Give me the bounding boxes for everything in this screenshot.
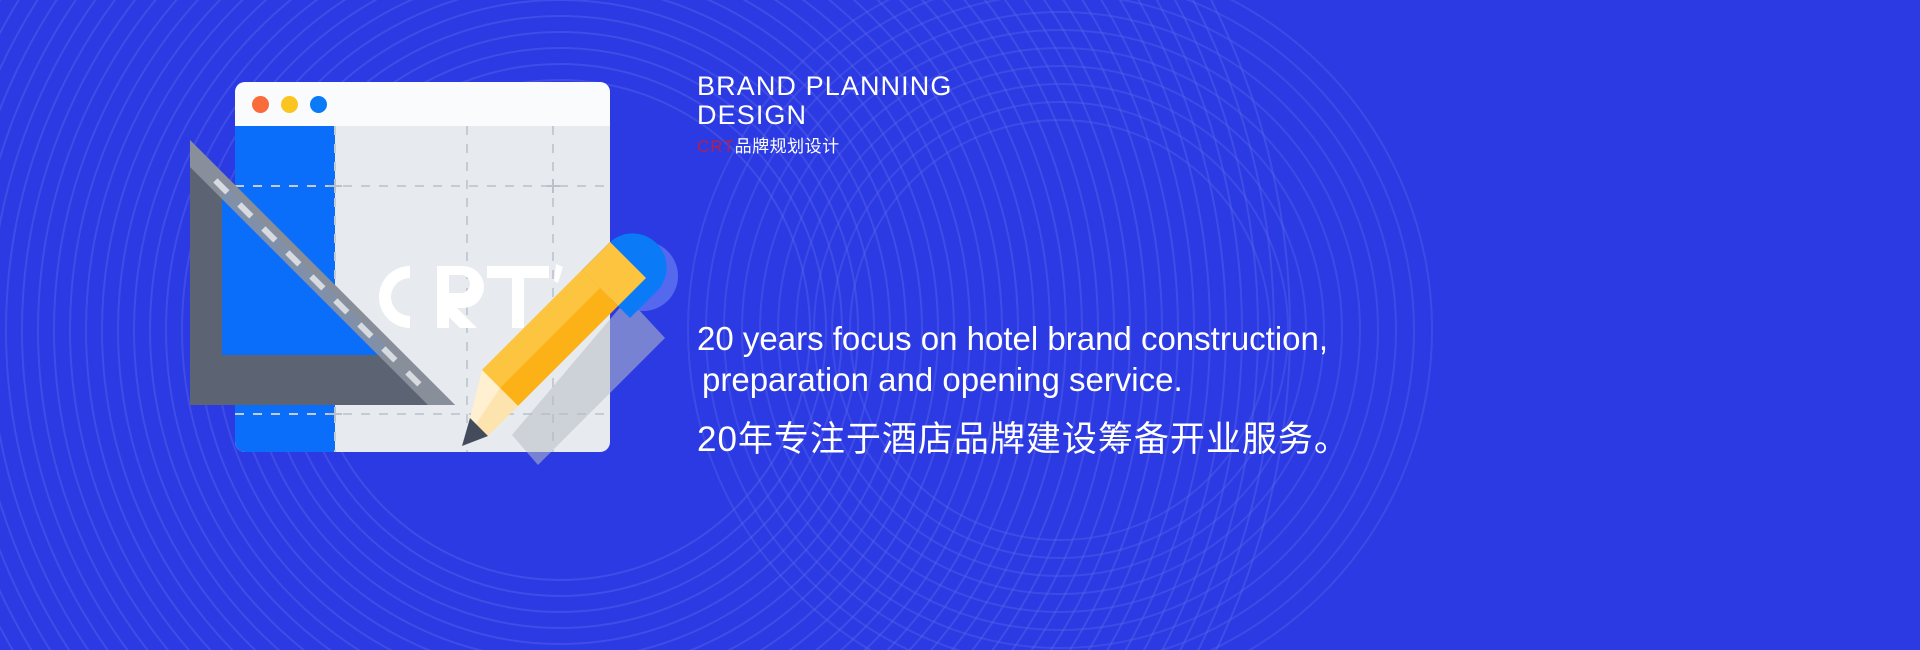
kicker-line-2: DESIGN (697, 101, 1317, 130)
kicker-subtitle-cn: 品牌规划设计 (735, 137, 840, 156)
window-maximize-dot-icon[interactable] (310, 96, 327, 113)
tagline-en-line-2: preparation and opening service. (697, 359, 1847, 400)
banner-tagline: 20 years focus on hotel brand constructi… (697, 318, 1847, 462)
window-minimize-dot-icon[interactable] (281, 96, 298, 113)
brand-design-illustration (180, 60, 720, 530)
kicker-line-1: BRAND PLANNING (697, 72, 1317, 101)
window-close-dot-icon[interactable] (252, 96, 269, 113)
pencil-icon (460, 220, 690, 480)
kicker-brand-mark: CRT (697, 137, 735, 156)
hero-banner: BRAND PLANNING DESIGN CRT品牌规划设计 20 years… (0, 0, 1920, 650)
banner-text-column: BRAND PLANNING DESIGN CRT品牌规划设计 20 years… (697, 0, 1897, 650)
window-titlebar (235, 82, 610, 126)
tagline-cn: 20年专注于酒店品牌建设筹备开业服务。 (697, 418, 1847, 462)
banner-kicker: BRAND PLANNING DESIGN CRT品牌规划设计 (697, 72, 1317, 157)
kicker-subtitle: CRT品牌规划设计 (697, 136, 1317, 157)
tagline-en-line-1: 20 years focus on hotel brand constructi… (697, 318, 1847, 359)
triangle-ruler-icon (180, 130, 470, 420)
